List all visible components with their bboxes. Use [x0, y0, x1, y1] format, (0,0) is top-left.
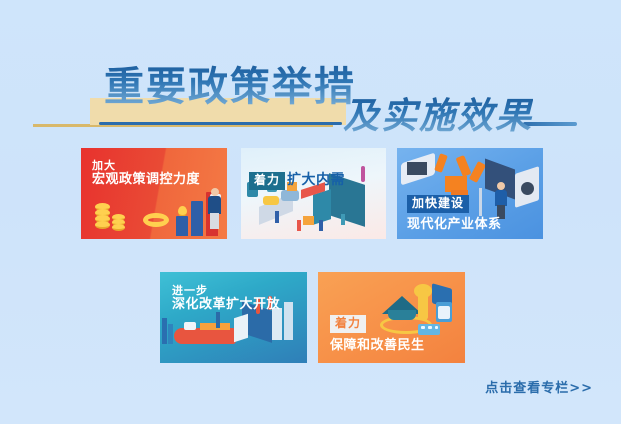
card-improve-peoples-livelihood[interactable]: 着力 保障和改善民生	[318, 272, 465, 363]
page-title-main: 重要政策举措	[104, 64, 356, 110]
card-caption: 着力 保障和改善民生	[330, 312, 425, 353]
policy-infographic-banner: 重要政策举措 及实施效果 加大 宏观政策调控力度	[0, 0, 621, 424]
key-head-icon	[414, 284, 432, 298]
coin-stack-icon	[95, 221, 110, 229]
port-building	[234, 314, 248, 343]
card-caption-line1: 进一步	[172, 284, 280, 297]
pedestrian-figure	[319, 220, 323, 231]
ship-containers	[200, 323, 230, 330]
robot-arm-icon	[434, 153, 448, 173]
pill-dot	[428, 326, 432, 329]
skyline-bar	[162, 318, 167, 344]
person-head	[211, 188, 219, 196]
card-caption: 加快建设 现代化产业体系	[407, 192, 502, 232]
card-caption-line1: 加大	[92, 159, 200, 172]
card-caption-line2: 现代化产业体系	[407, 217, 502, 233]
card-caption: 加大 宏观政策调控力度	[92, 159, 200, 188]
card-macro-policy-regulation[interactable]: 加大 宏观政策调控力度	[81, 148, 227, 239]
title-underline-left	[99, 122, 342, 125]
card-caption-line2: 深化改革扩大开放	[172, 297, 280, 313]
coin-stack-icon	[112, 224, 125, 231]
card-caption-line1: 着力	[249, 172, 285, 190]
person-head	[497, 182, 505, 190]
machine-screen	[407, 162, 427, 175]
person-legs	[210, 213, 219, 229]
view-column-link[interactable]: 点击查看专栏>>	[485, 377, 593, 396]
car-icon	[281, 190, 299, 201]
flag-pole-icon	[361, 166, 365, 182]
robot-arm-icon	[469, 161, 486, 183]
car-icon	[263, 196, 279, 205]
card-caption: 进一步 深化改革扩大开放	[172, 284, 280, 313]
parcel-box-icon	[303, 216, 314, 225]
pedestrian-figure	[275, 211, 279, 223]
cargo-ship-hull	[174, 328, 236, 344]
skyline-bar	[168, 324, 173, 344]
card-caption-line1: 着力	[330, 315, 366, 333]
tower-icon	[284, 302, 293, 340]
card-caption-line1: 加快建设	[407, 195, 469, 213]
bar-chart-bar	[176, 216, 188, 236]
bar-chart-bar	[191, 201, 203, 236]
page-title-sub: 及实施效果	[343, 96, 533, 138]
medical-bottle-icon	[438, 306, 450, 319]
card-expand-domestic-demand[interactable]: 着力扩大内需	[241, 148, 386, 239]
banner-title-area: 重要政策举措 及实施效果	[0, 28, 621, 128]
card-deepen-reform-opening-up[interactable]: 进一步 深化改革扩大开放	[160, 272, 307, 363]
crane-mast	[216, 312, 220, 328]
pedestrian-figure	[341, 214, 345, 225]
card-caption: 着力扩大内需	[249, 169, 345, 190]
card-caption-line2: 扩大内需	[287, 172, 345, 188]
person-body	[208, 196, 221, 214]
card-modern-industrial-system[interactable]: 加快建设 现代化产业体系	[397, 148, 543, 239]
pedestrian-figure	[297, 220, 301, 231]
card-caption-line2: 宏观政策调控力度	[92, 172, 200, 188]
card-caption-line2: 保障和改善民生	[330, 338, 425, 354]
machine-dial	[521, 182, 534, 195]
ship-cabin	[184, 322, 196, 330]
donut-ring-icon	[143, 213, 169, 227]
robot-arm-icon	[456, 155, 472, 177]
pill-dot	[435, 326, 438, 329]
